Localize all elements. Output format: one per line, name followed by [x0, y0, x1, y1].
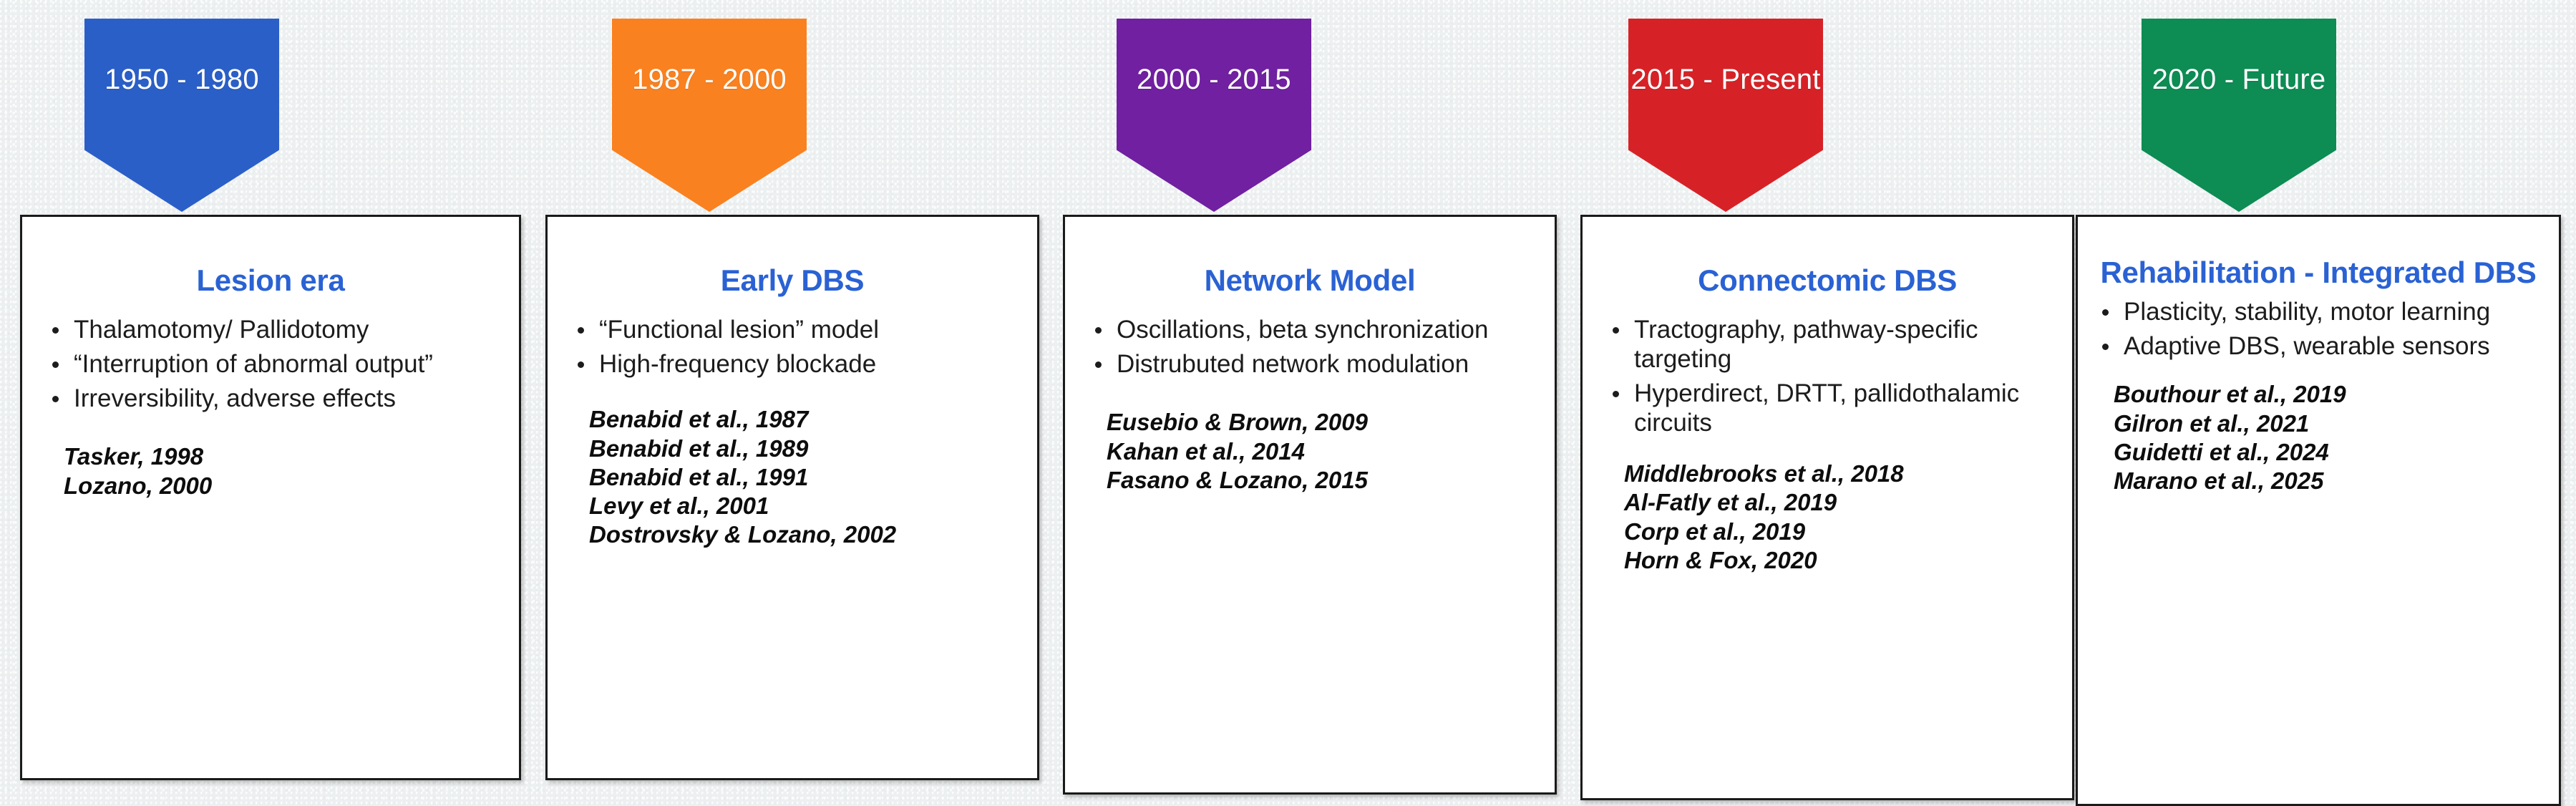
period-banner-4: 2015 - Present [1628, 19, 1823, 212]
reference-item: Lozano, 2000 [64, 472, 507, 500]
period-banner-3: 2000 - 2015 [1117, 19, 1311, 212]
list-item: High-frequency blockade [575, 350, 1023, 379]
reference-item: Benabid et al., 1991 [589, 463, 1026, 492]
reference-list-3: Eusebio & Brown, 2009 Kahan et al., 2014… [1065, 408, 1555, 495]
reference-item: Levy et al., 2001 [589, 492, 1026, 520]
era-card-3[interactable]: Network Model Oscillations, beta synchro… [1063, 215, 1557, 795]
card-title-5: Rehabilitation - Integrated DBS [2086, 256, 2550, 289]
list-item: Adaptive DBS, wearable sensors [2099, 332, 2545, 361]
reference-item: Eusebio & Brown, 2009 [1107, 408, 1543, 437]
reference-item: Gilron et al., 2021 [2114, 409, 2547, 438]
period-label-2: 1987 - 2000 [632, 64, 787, 96]
card-title-3: Network Model [1074, 263, 1546, 297]
period-banner-2: 1987 - 2000 [612, 19, 807, 212]
card-title-4: Connectomic DBS [1591, 263, 2064, 297]
list-item: Plasticity, stability, motor learning [2099, 298, 2545, 327]
list-item: Tractography, pathway-specific targeting [1610, 316, 2058, 374]
reference-item: Middlebrooks et al., 2018 [1624, 460, 2061, 488]
list-item: Distrubuted network modulation [1092, 350, 1540, 379]
period-label-5: 2020 - Future [2152, 64, 2326, 96]
list-item: Thalamotomy/ Pallidotomy [49, 316, 505, 345]
era-card-5[interactable]: Rehabilitation - Integrated DBS Plastici… [2076, 215, 2561, 806]
list-item: Oscillations, beta synchronization [1092, 316, 1540, 345]
period-banner-1: 1950 - 1980 [84, 19, 279, 212]
period-label-3: 2000 - 2015 [1137, 64, 1291, 96]
era-card-4[interactable]: Connectomic DBS Tractography, pathway-sp… [1580, 215, 2074, 800]
reference-list-1: Tasker, 1998 Lozano, 2000 [22, 442, 519, 500]
bullet-list-2: “Functional lesion” model High-frequency… [548, 316, 1037, 379]
bullet-list-5: Plasticity, stability, motor learning Ad… [2078, 298, 2559, 361]
period-label-1: 1950 - 1980 [105, 64, 259, 96]
reference-item: Benabid et al., 1989 [589, 434, 1026, 463]
dbs-evolution-timeline: 1950 - 1980 Lesion era Thalamotomy/ Pall… [0, 0, 2576, 805]
era-card-1[interactable]: Lesion era Thalamotomy/ Pallidotomy “Int… [20, 215, 521, 780]
reference-item: Corp et al., 2019 [1624, 518, 2061, 546]
reference-item: Fasano & Lozano, 2015 [1107, 466, 1543, 495]
list-item: Hyperdirect, DRTT, pallidothalamic circu… [1610, 379, 2058, 438]
card-title-1: Lesion era [31, 263, 510, 297]
reference-item: Dostrovsky & Lozano, 2002 [589, 520, 1026, 549]
reference-item: Benabid et al., 1987 [589, 405, 1026, 434]
list-item: “Interruption of abnormal output” [49, 350, 505, 379]
era-card-2[interactable]: Early DBS “Functional lesion” model High… [545, 215, 1039, 780]
card-title-2: Early DBS [556, 263, 1029, 297]
bullet-list-3: Oscillations, beta synchronization Distr… [1065, 316, 1555, 379]
period-label-4: 2015 - Present [1630, 64, 1820, 96]
bullet-list-1: Thalamotomy/ Pallidotomy “Interruption o… [22, 316, 519, 414]
reference-list-2: Benabid et al., 1987 Benabid et al., 198… [548, 405, 1037, 549]
reference-item: Tasker, 1998 [64, 442, 507, 471]
period-banner-5: 2020 - Future [2142, 19, 2336, 212]
reference-item: Al-Fatly et al., 2019 [1624, 488, 2061, 517]
reference-item: Horn & Fox, 2020 [1624, 546, 2061, 575]
list-item: Irreversibility, adverse effects [49, 384, 505, 414]
bullet-list-4: Tractography, pathway-specific targeting… [1583, 316, 2072, 438]
reference-item: Marano et al., 2025 [2114, 467, 2547, 495]
reference-item: Guidetti et al., 2024 [2114, 438, 2547, 467]
reference-item: Kahan et al., 2014 [1107, 437, 1543, 466]
reference-list-5: Bouthour et al., 2019 Gilron et al., 202… [2078, 380, 2559, 495]
reference-item: Bouthour et al., 2019 [2114, 380, 2547, 409]
list-item: “Functional lesion” model [575, 316, 1023, 345]
reference-list-4: Middlebrooks et al., 2018 Al-Fatly et al… [1583, 460, 2072, 575]
